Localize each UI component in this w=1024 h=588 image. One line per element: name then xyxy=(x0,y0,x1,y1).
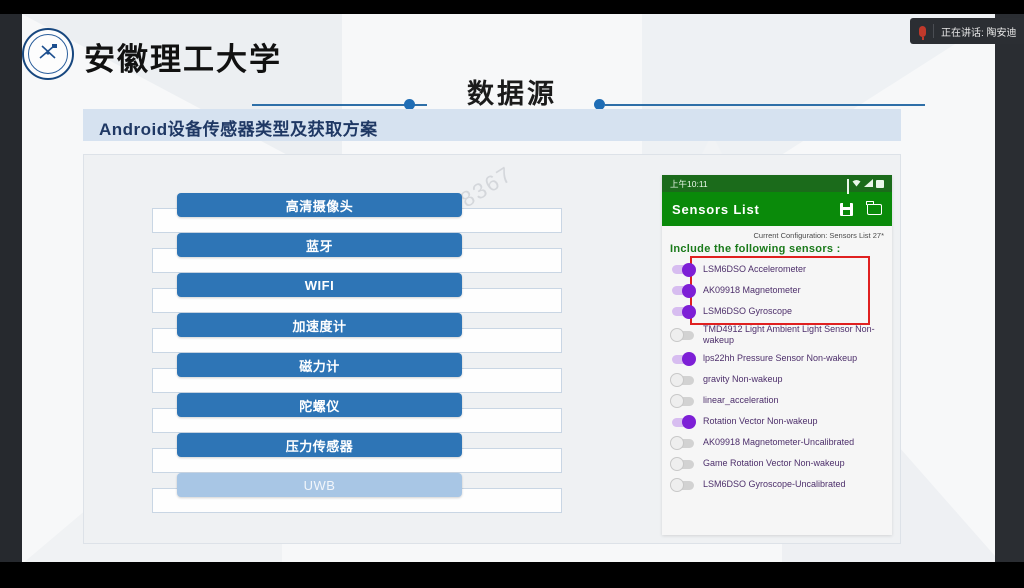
sensor-list-item[interactable]: Rotation Vector Non-wakeup xyxy=(662,412,892,433)
sensor-bar-list: 高清摄像头蓝牙WIFI加速度计磁力计陀螺仪压力传感器UWB xyxy=(152,193,572,513)
toggle-knob xyxy=(682,284,696,298)
sensor-bar-chip[interactable]: 加速度计 xyxy=(177,313,462,337)
sensor-bar-chip[interactable]: WIFI xyxy=(177,273,462,297)
toggle-knob xyxy=(670,436,684,450)
letterbox-right xyxy=(995,14,1024,562)
sensor-toggle[interactable] xyxy=(672,439,694,448)
section-subtitle-band: Android设备传感器类型及获取方案 xyxy=(83,109,901,141)
sensor-label: Game Rotation Vector Non-wakeup xyxy=(703,458,845,469)
sensor-bar-row: 加速度计 xyxy=(152,313,572,353)
current-configuration-label: Current Configuration: Sensors List 27* xyxy=(662,226,892,240)
toggle-knob xyxy=(670,457,684,471)
sensor-label: lps22hh Pressure Sensor Non-wakeup xyxy=(703,353,857,364)
sensor-list-item[interactable]: TMD4912 Light Ambient Light Sensor Non-w… xyxy=(662,322,892,349)
sensor-label: AK09918 Magnetometer-Uncalibrated xyxy=(703,437,854,448)
sensor-bar-row: 蓝牙 xyxy=(152,233,572,273)
sensor-toggle[interactable] xyxy=(672,418,694,427)
sensor-bar-chip[interactable]: 高清摄像头 xyxy=(177,193,462,217)
crossed-hammers-icon xyxy=(33,39,63,69)
sensor-list-item[interactable]: lps22hh Pressure Sensor Non-wakeup xyxy=(662,349,892,370)
microphone-icon xyxy=(919,26,926,37)
content-panel: 实验图 +8619554328367 高清摄像头蓝牙WIFI加速度计磁力计陀螺仪… xyxy=(83,154,901,544)
app-bar-actions xyxy=(840,203,882,216)
active-speaker-badge: 正在讲话: 陶安迪 xyxy=(910,18,1024,44)
title-rule-right xyxy=(605,104,925,106)
folder-icon[interactable] xyxy=(867,204,882,215)
letterbox-top xyxy=(0,0,1024,14)
include-sensors-heading: Include the following sensors : xyxy=(662,240,892,259)
sensor-bar-chip[interactable]: 压力传感器 xyxy=(177,433,462,457)
badge-divider xyxy=(933,24,934,38)
sensor-label: Rotation Vector Non-wakeup xyxy=(703,416,818,427)
sensor-bar-row: 磁力计 xyxy=(152,353,572,393)
phone-sensor-list: LSM6DSO AccelerometerAK09918 Magnetomete… xyxy=(662,259,892,496)
sensor-toggle[interactable] xyxy=(672,265,694,274)
toggle-knob xyxy=(670,373,684,387)
sensor-label: linear_acceleration xyxy=(703,395,779,406)
sensor-list-item[interactable]: LSM6DSO Gyroscope xyxy=(662,301,892,322)
toggle-knob xyxy=(682,352,696,366)
active-speaker-label: 正在讲话: 陶安迪 xyxy=(941,24,1017,39)
sensor-list-item[interactable]: AK09918 Magnetometer-Uncalibrated xyxy=(662,433,892,454)
sensor-list-item[interactable]: linear_acceleration xyxy=(662,391,892,412)
meeting-screen: 安徽理工大学 数据源 Android设备传感器类型及获取方案 实验图 +8619… xyxy=(0,0,1024,588)
sensor-list-item[interactable]: gravity Non-wakeup xyxy=(662,370,892,391)
phone-app-bar: Sensors List xyxy=(662,192,892,226)
sensor-bar-chip[interactable]: 陀螺仪 xyxy=(177,393,462,417)
phone-screenshot: 上午10:11 Senso xyxy=(662,175,892,535)
page-title: 数据源 xyxy=(452,72,572,111)
sensor-label: LSM6DSO Gyroscope-Uncalibrated xyxy=(703,479,846,490)
sensor-toggle[interactable] xyxy=(672,397,694,406)
sensor-bar-chip[interactable]: 蓝牙 xyxy=(177,233,462,257)
sensor-toggle[interactable] xyxy=(672,460,694,469)
signal-icon xyxy=(847,179,849,189)
presentation-slide: 安徽理工大学 数据源 Android设备传感器类型及获取方案 实验图 +8619… xyxy=(22,14,995,562)
sensor-list-item[interactable]: AK09918 Magnetometer xyxy=(662,280,892,301)
sensor-list-item[interactable]: Game Rotation Vector Non-wakeup xyxy=(662,454,892,475)
sensor-bar-row: 陀螺仪 xyxy=(152,393,572,433)
sensor-toggle[interactable] xyxy=(672,286,694,295)
sensor-toggle[interactable] xyxy=(672,376,694,385)
save-icon[interactable] xyxy=(840,203,853,216)
sensor-label: TMD4912 Light Ambient Light Sensor Non-w… xyxy=(703,324,886,347)
sensor-bar-row: 压力传感器 xyxy=(152,433,572,473)
phone-status-bar: 上午10:11 xyxy=(662,175,892,192)
status-bar-icons xyxy=(847,179,884,189)
sensor-label: LSM6DSO Gyroscope xyxy=(703,306,792,317)
sensor-toggle[interactable] xyxy=(672,355,694,364)
sensor-bar-row: UWB xyxy=(152,473,572,513)
wifi-icon xyxy=(852,179,861,189)
sensor-label: gravity Non-wakeup xyxy=(703,374,783,385)
app-bar-title: Sensors List xyxy=(672,202,760,217)
toggle-knob xyxy=(670,328,684,342)
toggle-knob xyxy=(670,478,684,492)
toggle-knob xyxy=(682,305,696,319)
cellular-icon xyxy=(864,179,873,189)
sensor-list-item[interactable]: LSM6DSO Gyroscope-Uncalibrated xyxy=(662,475,892,496)
sensor-bar-chip[interactable]: 磁力计 xyxy=(177,353,462,377)
sensor-toggle[interactable] xyxy=(672,307,694,316)
sensor-toggle[interactable] xyxy=(672,331,694,340)
sensor-list-item[interactable]: LSM6DSO Accelerometer xyxy=(662,259,892,280)
sensor-bar-row: WIFI xyxy=(152,273,572,313)
sensor-bar-row: 高清摄像头 xyxy=(152,193,572,233)
status-bar-time: 上午10:11 xyxy=(670,178,708,190)
sensor-toggle[interactable] xyxy=(672,481,694,490)
letterbox-bottom xyxy=(0,562,1024,588)
letterbox-left xyxy=(0,14,22,562)
title-rule-left xyxy=(252,104,427,106)
sensor-bar-chip[interactable]: UWB xyxy=(177,473,462,497)
sensor-label: LSM6DSO Accelerometer xyxy=(703,264,806,275)
battery-icon xyxy=(876,180,884,188)
sensor-label: AK09918 Magnetometer xyxy=(703,285,801,296)
section-subtitle: Android设备传感器类型及获取方案 xyxy=(99,115,378,140)
toggle-knob xyxy=(682,263,696,277)
toggle-knob xyxy=(670,394,684,408)
toggle-knob xyxy=(682,415,696,429)
